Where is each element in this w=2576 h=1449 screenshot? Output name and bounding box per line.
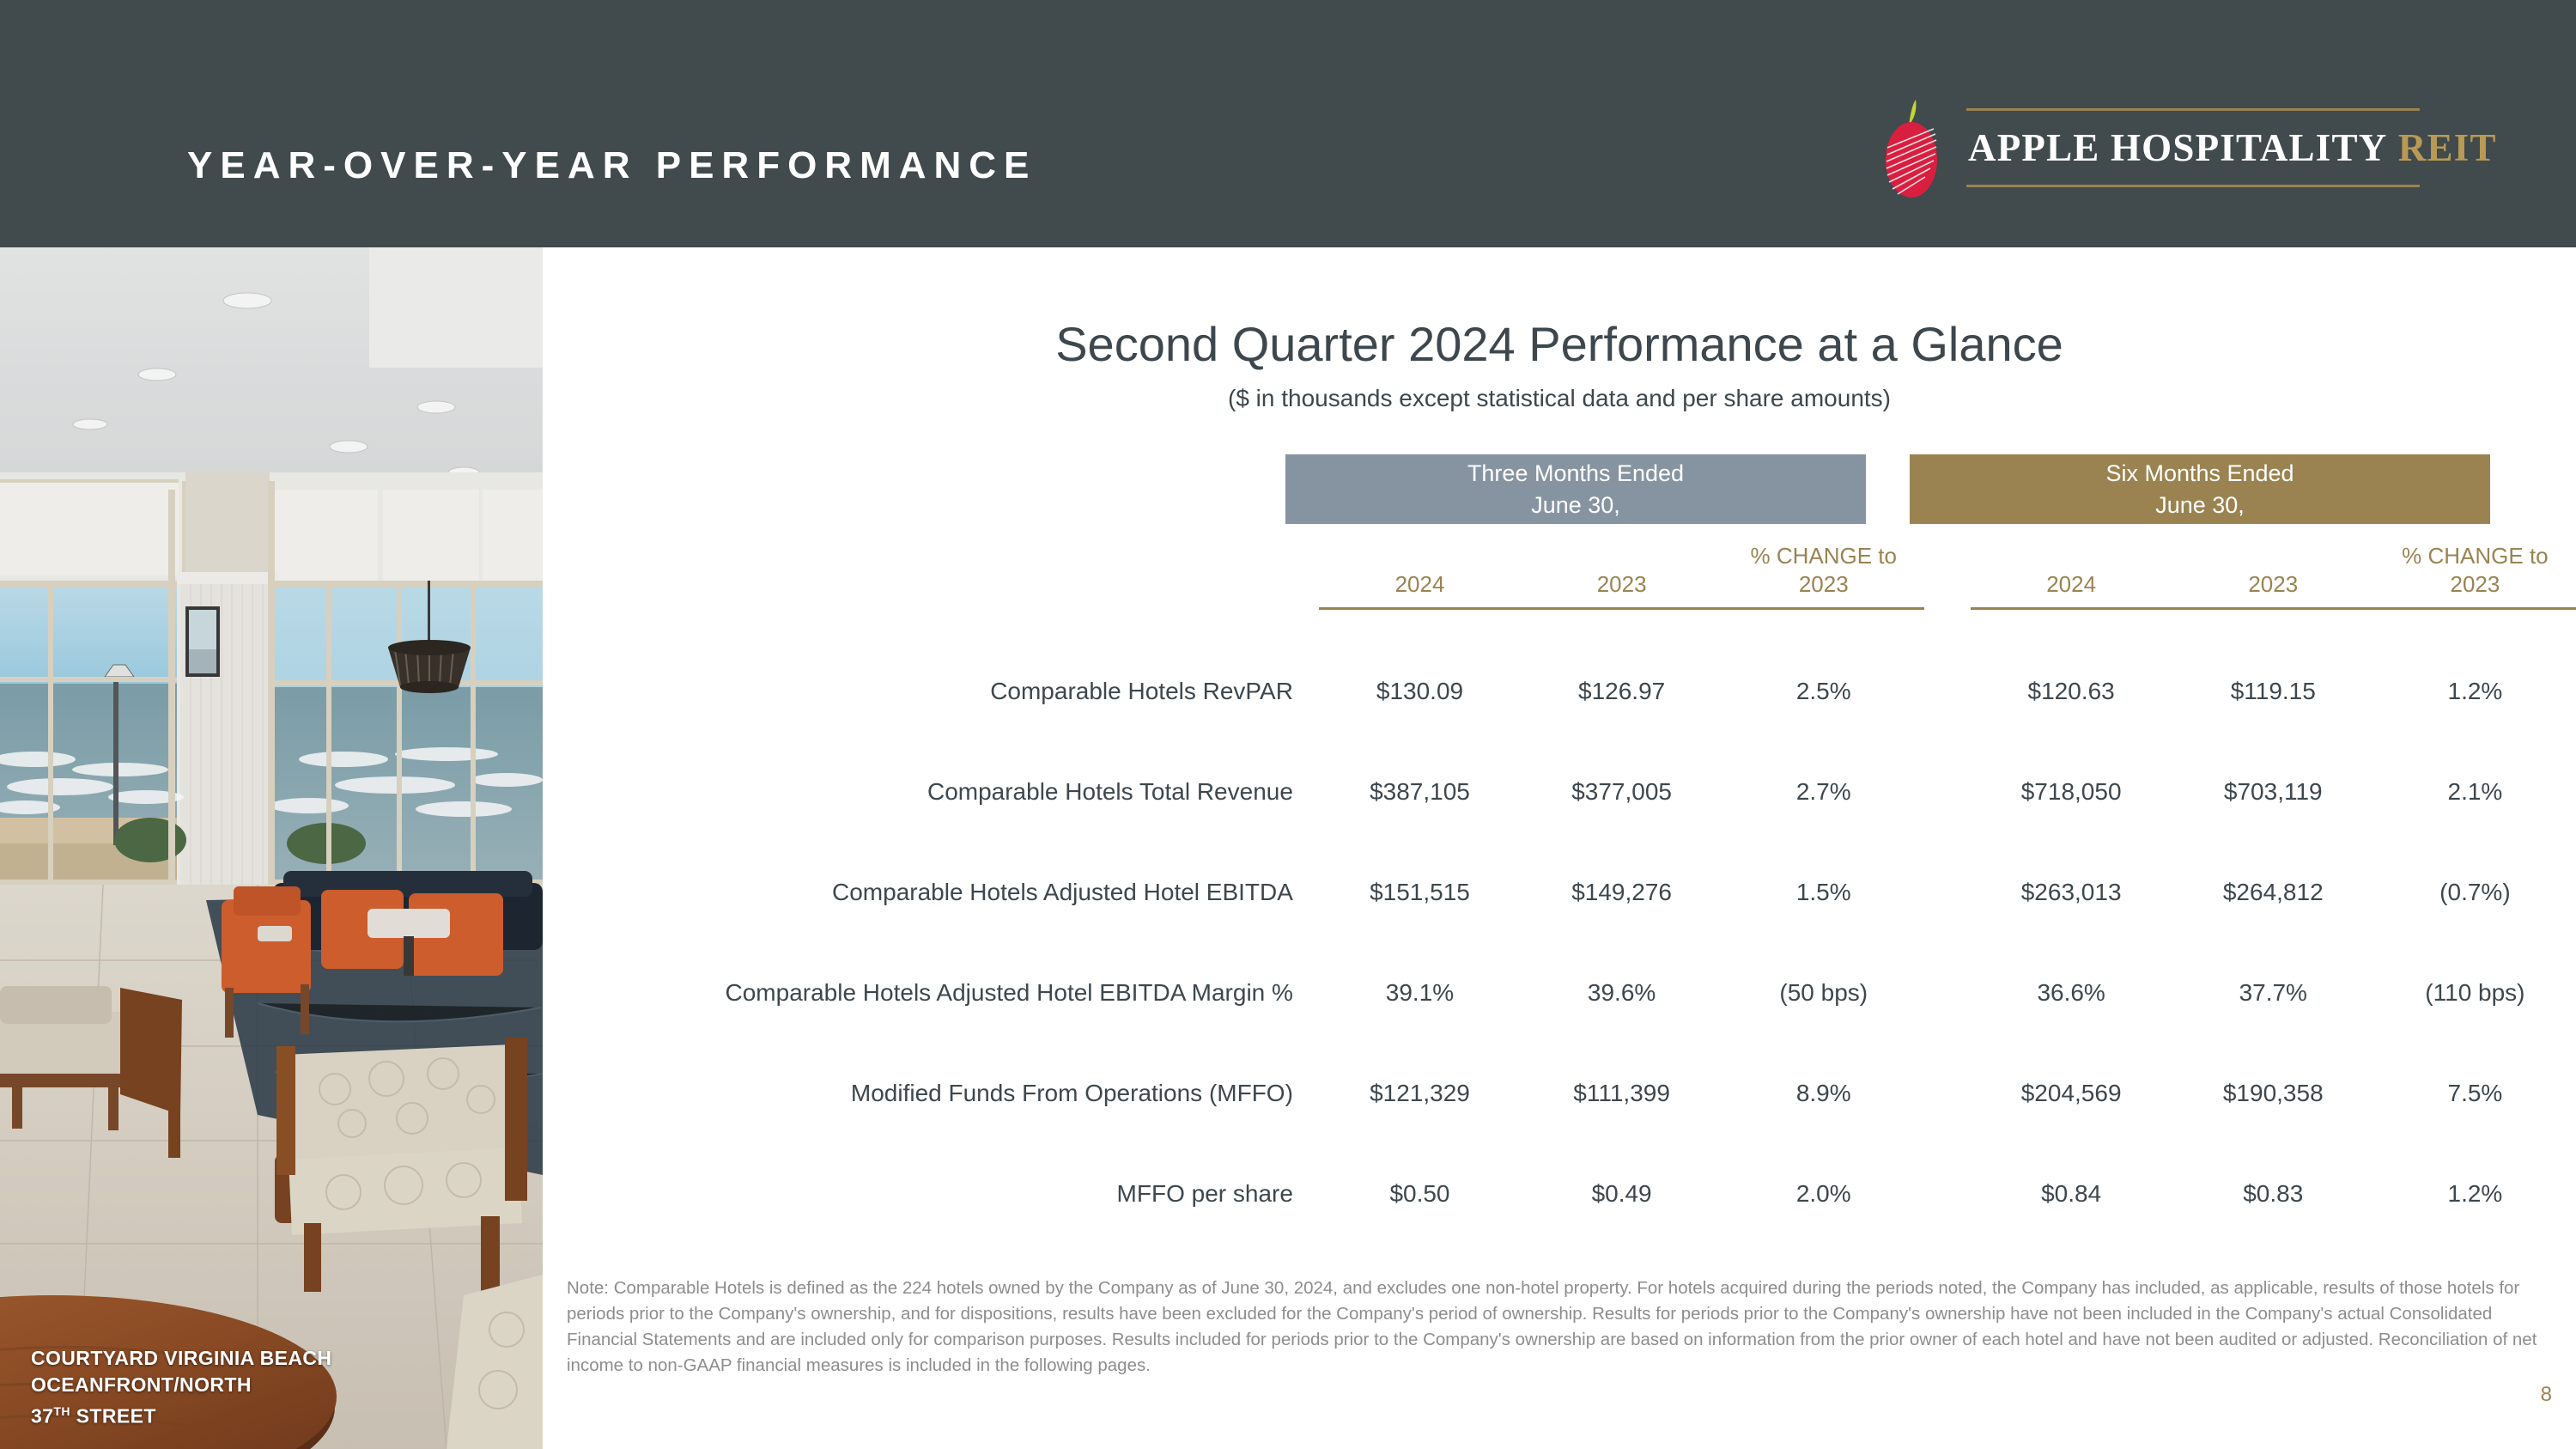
photo-caption: COURTYARD VIRGINIA BEACH OCEANFRONT/NORT…	[31, 1345, 512, 1430]
logo-rule-top	[1966, 108, 2420, 111]
row-label-total-revenue: Comparable Hotels Total Revenue	[543, 741, 1319, 842]
cell-mffo-per-share-6m-change: 1.2%	[2374, 1143, 2576, 1244]
table-row: Comparable Hotels Total Revenue $387,105…	[543, 741, 2576, 842]
slide-header-bar: YEAR-OVER-YEAR PERFORMANCE APPLE HOSPITA…	[0, 0, 2576, 247]
logo-name-gold: REIT	[2398, 126, 2497, 169]
photo-caption-line2-suffix: STREET	[70, 1405, 156, 1428]
cell-total-revenue-3m-2023: $377,005	[1521, 741, 1722, 842]
slide: YEAR-OVER-YEAR PERFORMANCE APPLE HOSPITA…	[0, 0, 2576, 1449]
column-header-6m-change-line1: % CHANGE to	[2374, 542, 2576, 570]
cell-ebitda-3m-2024: $151,515	[1319, 842, 1521, 942]
cell-ebitda-6m-2023: $264,812	[2172, 842, 2374, 942]
page-title: YEAR-OVER-YEAR PERFORMANCE	[187, 144, 1036, 187]
logo-text: APPLE HOSPITALITY REIT	[1968, 125, 2497, 170]
performance-table-body: Comparable Hotels RevPAR $130.09 $126.97…	[543, 608, 2576, 1244]
main-content: Second Quarter 2024 Performance at a Gla…	[543, 247, 2576, 1449]
apple-logo-icon	[1880, 94, 1947, 202]
column-header-gap	[1924, 531, 1970, 608]
logo-name-white: APPLE HOSPITALITY	[1968, 126, 2387, 169]
photo-caption-line1: COURTYARD VIRGINIA BEACH OCEANFRONT/NORT…	[31, 1347, 331, 1396]
cell-total-revenue-6m-2024: $718,050	[1971, 741, 2172, 842]
cell-total-revenue-3m-change: 2.7%	[1722, 741, 1924, 842]
group-header-six-months-line2: June 30,	[2155, 490, 2245, 521]
table-row: Modified Funds From Operations (MFFO) $1…	[543, 1043, 2576, 1143]
page-number: 8	[2541, 1383, 2552, 1407]
performance-table-head: 2024 2023 % CHANGE to 2023 2024 2023 % C…	[543, 531, 2576, 608]
column-header-blank	[543, 531, 1319, 608]
apple-hospitality-reit-logo: APPLE HOSPITALITY REIT	[1880, 96, 2421, 199]
hotel-lobby-illustration	[0, 247, 543, 1449]
hotel-lobby-photo: COURTYARD VIRGINIA BEACH OCEANFRONT/NORT…	[0, 247, 543, 1449]
cell-ebitda-margin-3m-2024: 39.1%	[1319, 942, 1521, 1043]
cell-ebitda-6m-2024: $263,013	[1971, 842, 2172, 942]
column-header-6m-2024: 2024	[1971, 531, 2172, 608]
cell-mffo-per-share-6m-2023: $0.83	[2172, 1143, 2374, 1244]
column-header-6m-2023: 2023	[2172, 531, 2374, 608]
table-row: Comparable Hotels Adjusted Hotel EBITDA …	[543, 942, 2576, 1043]
row-label-ebitda: Comparable Hotels Adjusted Hotel EBITDA	[543, 842, 1319, 942]
cell-ebitda-3m-change: 1.5%	[1722, 842, 1924, 942]
footnote-text: Note: Comparable Hotels is defined as th…	[567, 1275, 2550, 1379]
group-header-three-months-line1: Three Months Ended	[1467, 458, 1684, 490]
cell-total-revenue-6m-2023: $703,119	[2172, 741, 2374, 842]
column-header-6m-change: % CHANGE to 2023	[2374, 531, 2576, 608]
cell-ebitda-margin-6m-2024: 36.6%	[1971, 942, 2172, 1043]
row-label-mffo-per-share: MFFO per share	[543, 1143, 1319, 1244]
table-spacer	[543, 608, 2576, 641]
row-label-mffo: Modified Funds From Operations (MFFO)	[543, 1043, 1319, 1143]
cell-ebitda-margin-6m-change: (110 bps)	[2374, 942, 2576, 1043]
cell-ebitda-margin-3m-change: (50 bps)	[1722, 942, 1924, 1043]
cell-mffo-3m-change: 8.9%	[1722, 1043, 1924, 1143]
cell-mffo-3m-2023: $111,399	[1521, 1043, 1722, 1143]
cell-mffo-3m-2024: $121,329	[1319, 1043, 1521, 1143]
cell-mffo-per-share-3m-2024: $0.50	[1319, 1143, 1521, 1244]
table-row: MFFO per share $0.50 $0.49 2.0% $0.84 $0…	[543, 1143, 2576, 1244]
performance-table: 2024 2023 % CHANGE to 2023 2024 2023 % C…	[543, 531, 2576, 1244]
logo-rule-bottom	[1966, 185, 2420, 187]
logo-wordmark: APPLE HOSPITALITY REIT	[1966, 108, 2420, 187]
table-row: Comparable Hotels RevPAR $130.09 $126.97…	[543, 641, 2576, 741]
cell-ebitda-margin-6m-2023: 37.7%	[2172, 942, 2374, 1043]
cell-total-revenue-6m-change: 2.1%	[2374, 741, 2576, 842]
group-header-six-months: Six Months Ended June 30,	[1910, 454, 2490, 524]
cell-revpar-3m-2023: $126.97	[1521, 641, 1722, 741]
cell-ebitda-6m-change: (0.7%)	[2374, 842, 2576, 942]
content-subtitle: ($ in thousands except statistical data …	[543, 385, 2576, 412]
column-header-6m-change-line2: 2023	[2374, 570, 2576, 599]
cell-mffo-6m-2024: $204,569	[1971, 1043, 2172, 1143]
cell-revpar-6m-2024: $120.63	[1971, 641, 2172, 741]
row-label-ebitda-margin: Comparable Hotels Adjusted Hotel EBITDA …	[543, 942, 1319, 1043]
cell-total-revenue-3m-2024: $387,105	[1319, 741, 1521, 842]
cell-revpar-3m-change: 2.5%	[1722, 641, 1924, 741]
group-header-three-months: Three Months Ended June 30,	[1285, 454, 1866, 524]
group-header-three-months-line2: June 30,	[1531, 490, 1620, 521]
group-header-six-months-line1: Six Months Ended	[2105, 458, 2293, 490]
column-header-3m-change: % CHANGE to 2023	[1722, 531, 1924, 608]
cell-ebitda-margin-3m-2023: 39.6%	[1521, 942, 1722, 1043]
cell-mffo-per-share-3m-change: 2.0%	[1722, 1143, 1924, 1244]
column-header-3m-2024: 2024	[1319, 531, 1521, 608]
cell-revpar-6m-2023: $119.15	[2172, 641, 2374, 741]
column-header-3m-2023: 2023	[1521, 531, 1722, 608]
column-header-3m-change-line2: 2023	[1722, 570, 1924, 599]
cell-revpar-6m-change: 1.2%	[2374, 641, 2576, 741]
content-title: Second Quarter 2024 Performance at a Gla…	[543, 316, 2576, 372]
photo-caption-line2-prefix: 37	[31, 1405, 53, 1428]
cell-mffo-per-share-6m-2024: $0.84	[1971, 1143, 2172, 1244]
cell-mffo-6m-2023: $190,358	[2172, 1043, 2374, 1143]
table-row: Comparable Hotels Adjusted Hotel EBITDA …	[543, 842, 2576, 942]
cell-mffo-per-share-3m-2023: $0.49	[1521, 1143, 1722, 1244]
photo-caption-ordinal-suffix: TH	[53, 1404, 70, 1418]
row-label-revpar: Comparable Hotels RevPAR	[543, 641, 1319, 741]
cell-mffo-6m-change: 7.5%	[2374, 1043, 2576, 1143]
cell-revpar-3m-2024: $130.09	[1319, 641, 1521, 741]
column-header-row: 2024 2023 % CHANGE to 2023 2024 2023 % C…	[543, 531, 2576, 608]
column-header-3m-change-line1: % CHANGE to	[1722, 542, 1924, 570]
cell-ebitda-3m-2023: $149,276	[1521, 842, 1722, 942]
